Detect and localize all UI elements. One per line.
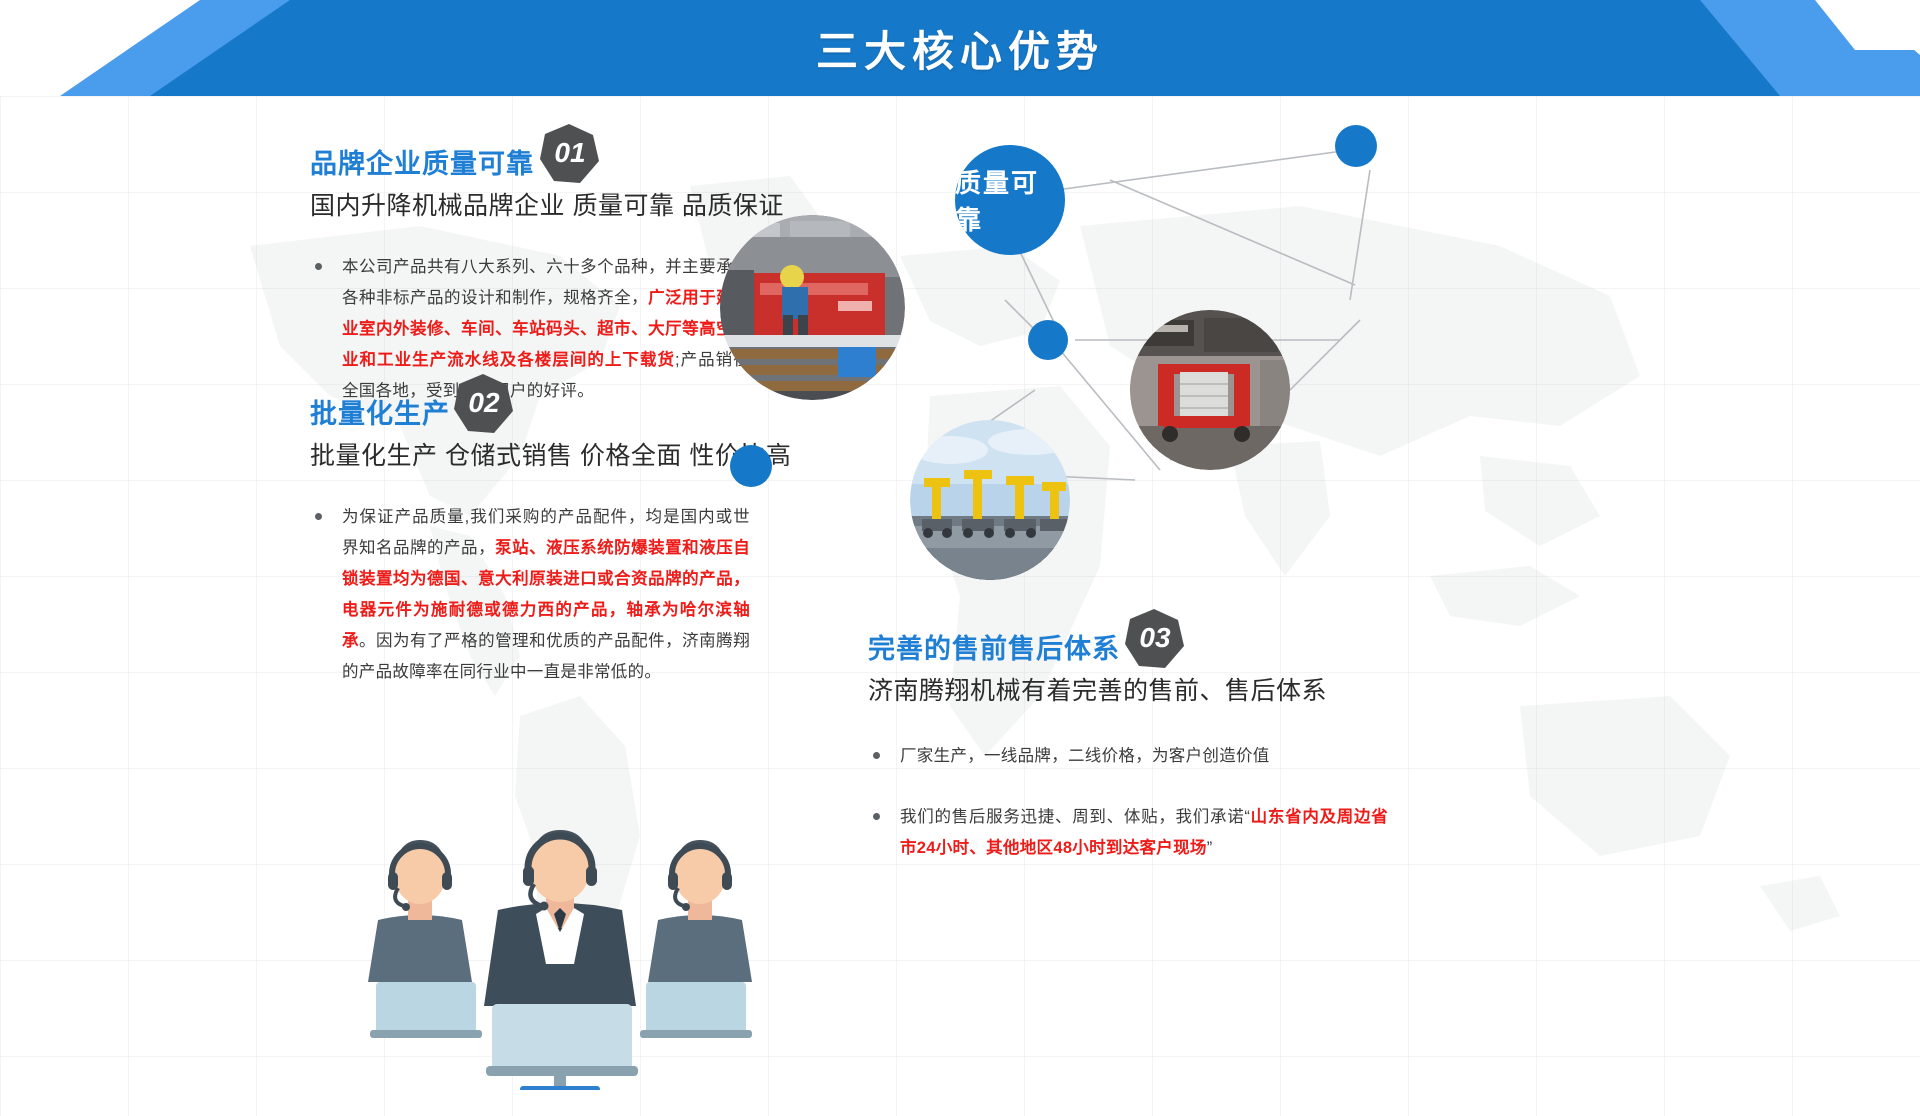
red-lift-photo <box>1130 310 1290 470</box>
feature-header-01: 品牌企业质量可靠 01 <box>310 150 750 180</box>
feature-block-01: 品牌企业质量可靠 01 国内升降机械品牌企业 质量可靠 品质保证 本公司产品共有… <box>310 150 750 407</box>
feature-title-01: 品牌企业质量可靠 <box>310 150 534 180</box>
bullet-dot-icon <box>873 752 880 759</box>
feature-title-02: 批量化生产 <box>310 400 450 430</box>
feature-badge-01: 01 <box>538 123 600 185</box>
normal-text: 。因为有了严格的管理和优质的产品配件，济南腾翔的产品故障率在同行业中一直是非常低… <box>342 632 750 681</box>
feature-badge-02: 02 <box>452 373 514 435</box>
feature-block-03: 完善的售前售后体系 03 济南腾翔机械有着完善的售前、售后体系 厂家生产，一线品… <box>868 635 1388 864</box>
feature-subtitle-01: 国内升降机械品牌企业 质量可靠 品质保证 <box>310 186 750 222</box>
feature-number-02: 02 <box>468 387 499 419</box>
normal-text: 厂家生产，一线品牌，二线价格，为客户创造价值 <box>900 747 1270 765</box>
feature-block-02: 批量化生产 02 批量化生产 仓储式销售 价格全面 性价比高 为保证产品质量,我… <box>310 400 750 688</box>
bullet-text: 我们的售后服务迅捷、周到、体贴，我们承诺“山东省内及周边省市24小时、其他地区4… <box>900 802 1388 864</box>
yellow-lift-photo <box>910 420 1070 580</box>
bullet-item: 我们的售后服务迅捷、周到、体贴，我们承诺“山东省内及周边省市24小时、其他地区4… <box>868 802 1388 864</box>
bullet-item: 本公司产品共有八大系列、六十多个品种，并主要承接各种非标产品的设计和制作，规格齐… <box>310 252 750 407</box>
feature-subtitle-03: 济南腾翔机械有着完善的售前、售后体系 <box>868 671 1388 707</box>
feature-number-01: 01 <box>554 137 585 169</box>
feature-header-02: 批量化生产 02 <box>310 400 750 430</box>
normal-text: 我们的售后服务迅捷、周到、体贴，我们承诺“ <box>900 808 1250 826</box>
quality-label-node: 质量可靠 <box>955 145 1065 255</box>
bullet-dot-icon <box>315 263 322 270</box>
bullet-dot-icon <box>315 513 322 520</box>
photo-node-lift-yellow <box>910 420 1070 580</box>
feature-subtitle-02: 批量化生产 仓储式销售 价格全面 性价比高 <box>310 436 750 472</box>
feature-bullets-03: 厂家生产，一线品牌，二线价格，为客户创造价值 我们的售后服务迅捷、周到、体贴，我… <box>868 741 1388 864</box>
photo-node-factory <box>720 215 905 400</box>
normal-text: ” <box>1207 839 1213 857</box>
bullet-item: 为保证产品质量,我们采购的产品配件，均是国内或世界知名品牌的产品，泵站、液压系统… <box>310 502 750 688</box>
factory-photo <box>720 215 905 400</box>
bullet-text: 本公司产品共有八大系列、六十多个品种，并主要承接各种非标产品的设计和制作，规格齐… <box>342 252 750 407</box>
customer-support-illustration <box>340 790 780 1090</box>
support-team-graphic <box>340 790 780 1090</box>
dot-node-right <box>1335 125 1377 167</box>
bullet-item: 厂家生产，一线品牌，二线价格，为客户创造价值 <box>868 741 1388 772</box>
feature-bullets-01: 本公司产品共有八大系列、六十多个品种，并主要承接各种非标产品的设计和制作，规格齐… <box>310 252 750 407</box>
photo-node-lift-red <box>1130 310 1290 470</box>
dot-node-left <box>730 445 772 487</box>
feature-bullets-02: 为保证产品质量,我们采购的产品配件，均是国内或世界知名品牌的产品，泵站、液压系统… <box>310 502 750 688</box>
bullet-text: 厂家生产，一线品牌，二线价格，为客户创造价值 <box>900 741 1388 772</box>
dot-node-center <box>1028 320 1068 360</box>
bullet-dot-icon <box>873 813 880 820</box>
network-diagram: 质量可靠 <box>860 140 1890 660</box>
bullet-text: 为保证产品质量,我们采购的产品配件，均是国内或世界知名品牌的产品，泵站、液压系统… <box>342 502 750 688</box>
quality-label-text: 质量可靠 <box>955 145 1065 255</box>
